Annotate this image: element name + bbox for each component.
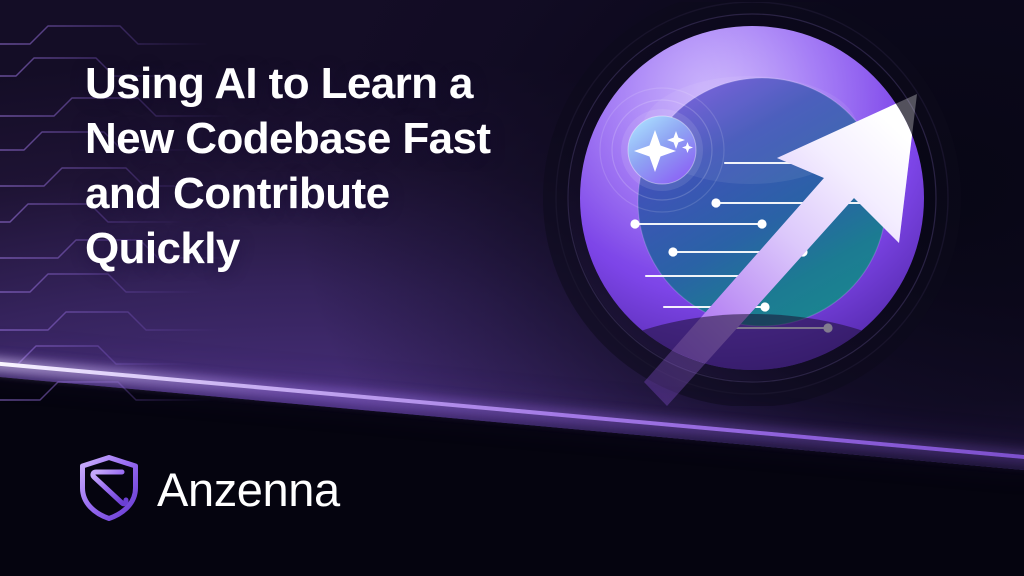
brand-wordmark: Anzenna [157, 466, 340, 513]
shield-swoosh-logo-icon [78, 455, 140, 521]
social-share-card: Using AI to Learn a New Codebase Fast an… [0, 0, 1024, 576]
ai-sparkle-badge-icon [628, 116, 696, 184]
ai-growth-orb-illustration [536, 2, 968, 406]
brand-logo-lockup[interactable]: Anzenna [78, 455, 340, 521]
page-title: Using AI to Learn a New Codebase Fast an… [85, 56, 515, 276]
